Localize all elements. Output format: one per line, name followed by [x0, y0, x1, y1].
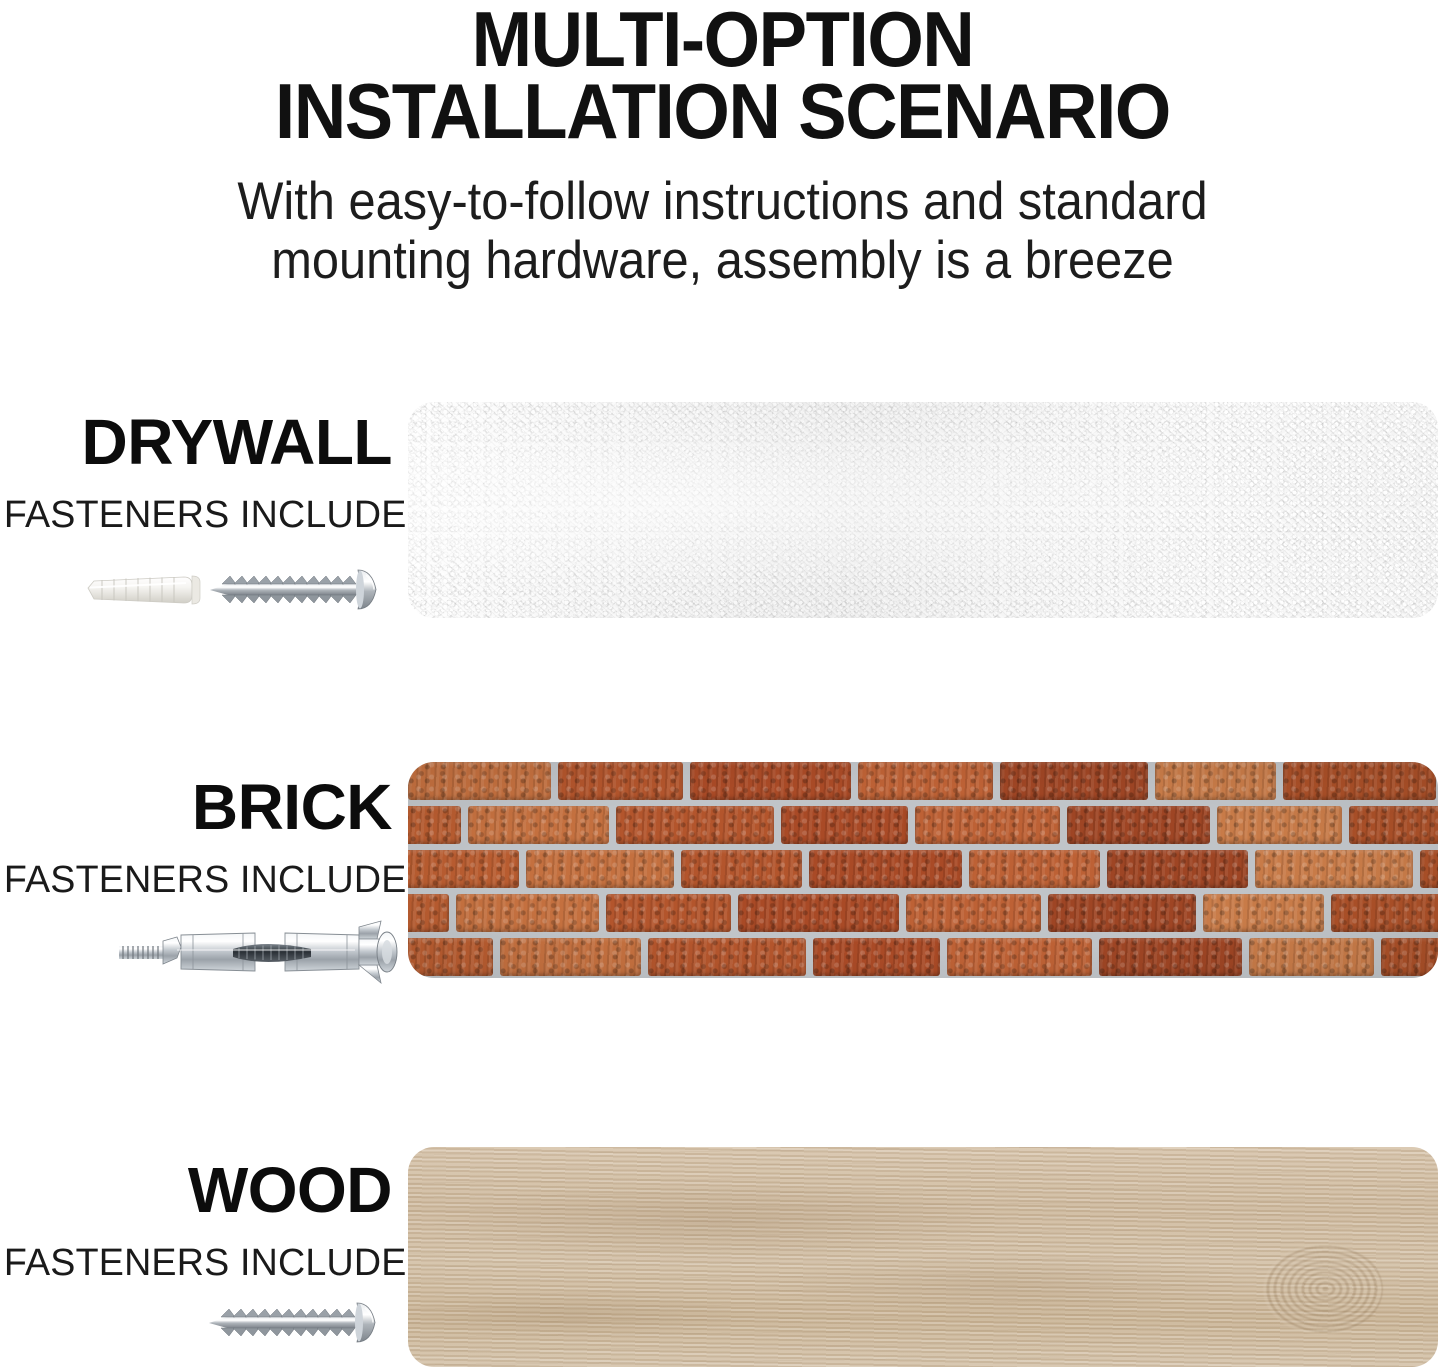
fasteners-included-wood: FASTENERS INCLUDED [4, 1244, 392, 1282]
brick-row [408, 938, 1438, 978]
brick-unit [408, 806, 461, 844]
header: MULTI-OPTION INSTALLATION SCENARIO With … [0, 0, 1445, 291]
drywall-label-column: DRYWALL FASTENERS INCLUDED [0, 410, 392, 534]
brick-unit [690, 762, 851, 800]
brick-unit [408, 894, 449, 932]
brick-unit [858, 762, 993, 800]
brick-unit [1331, 894, 1438, 932]
brick-row [408, 762, 1438, 806]
page-title: MULTI-OPTION INSTALLATION SCENARIO [51, 0, 1395, 148]
brick-unit [1381, 938, 1438, 976]
wood-label-column: WOOD FASTENERS INCLUDED [0, 1158, 392, 1282]
wood-knot-mark [1263, 1243, 1383, 1335]
material-name-wood: WOOD [0, 1158, 392, 1222]
brick-unit [738, 894, 899, 932]
installation-scenario-infographic: MULTI-OPTION INSTALLATION SCENARIO With … [0, 0, 1445, 1367]
brick-unit [408, 938, 493, 976]
molly-bolt-anchor-icon [115, 917, 400, 987]
brick-unit [1099, 938, 1242, 976]
material-name-drywall: DRYWALL [0, 410, 392, 474]
brick-unit [781, 806, 908, 844]
drywall-texture-shading [408, 402, 1438, 618]
brick-unit [1349, 806, 1438, 844]
brick-wall-texture [408, 762, 1438, 978]
brick-unit [809, 850, 962, 888]
brick-row [408, 806, 1438, 850]
brick-unit [1000, 762, 1148, 800]
brick-unit [947, 938, 1092, 976]
brick-unit [969, 850, 1100, 888]
brick-unit [1107, 850, 1248, 888]
washer-head-screw-icon [210, 570, 376, 609]
plastic-wall-anchor-icon [88, 576, 200, 604]
brick-label-column: BRICK FASTENERS INCLUDED [0, 775, 392, 899]
brick-unit [1067, 806, 1210, 844]
brick-unit [1249, 938, 1374, 976]
wood-screw-icon [205, 1295, 400, 1351]
brick-unit [606, 894, 731, 932]
drywall-surface-panel [408, 402, 1438, 618]
brick-unit [1217, 806, 1342, 844]
brick-unit [500, 938, 641, 976]
drywall-hardware-group [80, 562, 400, 618]
brick-unit [813, 938, 940, 976]
brick-unit [468, 806, 609, 844]
brick-unit [1203, 894, 1324, 932]
brick-unit [558, 762, 683, 800]
brick-unit [616, 806, 774, 844]
brick-unit [1283, 762, 1436, 800]
brick-unit [915, 806, 1060, 844]
brick-unit [1420, 850, 1438, 888]
brick-unit [456, 894, 599, 932]
brick-unit [1155, 762, 1276, 800]
brick-unit [906, 894, 1041, 932]
wood-surface-panel [408, 1147, 1438, 1367]
brick-unit [1048, 894, 1196, 932]
fasteners-included-brick: FASTENERS INCLUDED [4, 861, 392, 899]
brick-row [408, 894, 1438, 938]
brick-unit [648, 938, 806, 976]
material-name-brick: BRICK [0, 775, 392, 839]
page-subtitle: With easy-to-follow instructions and sta… [58, 148, 1387, 292]
brick-unit [408, 850, 519, 888]
brick-unit [526, 850, 674, 888]
brick-surface-panel [408, 762, 1438, 978]
brick-unit [681, 850, 802, 888]
brick-unit [408, 762, 551, 800]
brick-unit [1255, 850, 1413, 888]
fasteners-included-drywall: FASTENERS INCLUDED [4, 496, 392, 534]
brick-row [408, 850, 1438, 894]
